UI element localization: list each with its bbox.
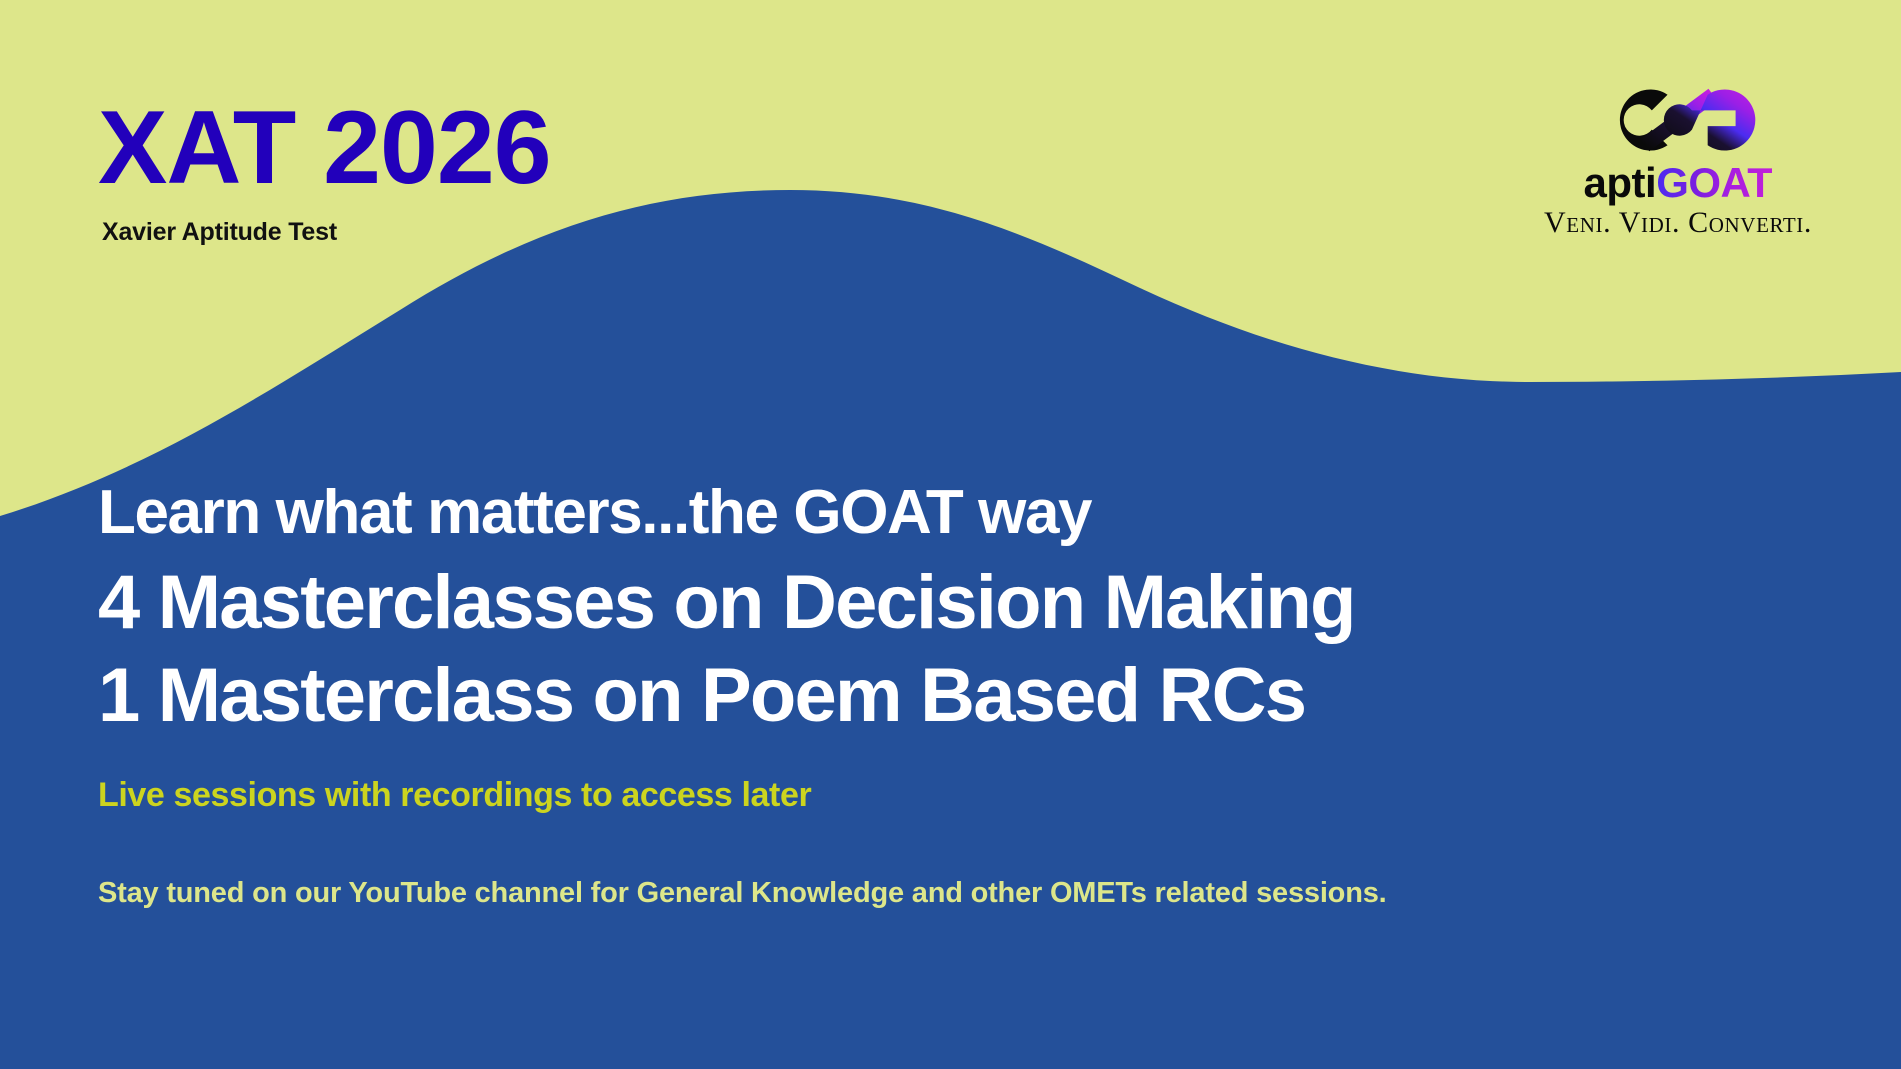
page-title: XAT 2026 bbox=[98, 96, 551, 200]
headline-major-poem-rc: 1 Masterclass on Poem Based RCs bbox=[98, 652, 1798, 740]
cg-infinity-icon bbox=[1590, 72, 1766, 168]
main-copy-block: Learn what matters...the GOAT way 4 Mast… bbox=[98, 478, 1798, 910]
brand-wordmark-prefix: apti bbox=[1584, 159, 1657, 206]
exam-subtitle: Xavier Aptitude Test bbox=[102, 218, 551, 247]
brand-logo: aptiGOAT Veni. Vidi. Converti. bbox=[1513, 72, 1843, 240]
headline-lead: Learn what matters...the GOAT way bbox=[98, 478, 1798, 547]
headline-major-decision-making: 4 Masterclasses on Decision Making bbox=[98, 559, 1798, 647]
brand-tagline: Veni. Vidi. Converti. bbox=[1513, 206, 1843, 240]
brand-wordmark: aptiGOAT bbox=[1513, 162, 1843, 204]
subnote-live-sessions: Live sessions with recordings to access … bbox=[98, 776, 1798, 815]
exam-title-block: XAT 2026 Xavier Aptitude Test bbox=[98, 96, 551, 247]
promo-banner: XAT 2026 Xavier Aptitude Test aptiGO bbox=[0, 0, 1901, 1069]
footnote-youtube: Stay tuned on our YouTube channel for Ge… bbox=[98, 877, 1798, 910]
brand-wordmark-suffix: GOAT bbox=[1656, 159, 1772, 206]
